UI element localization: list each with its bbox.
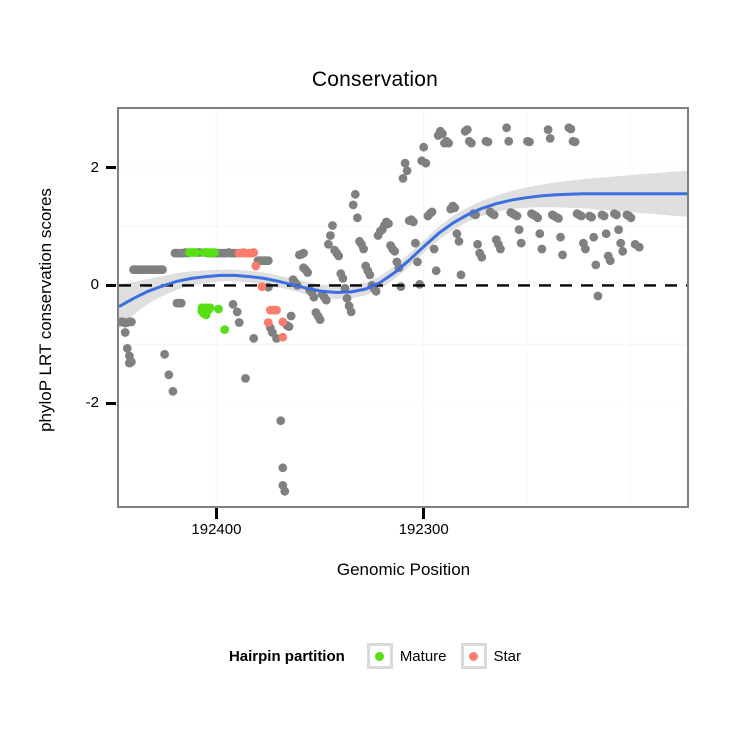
- mature-color-swatch: [375, 652, 384, 661]
- x-tick-label: 192300: [379, 521, 469, 538]
- conservation-plot-figure: Conservation phyloP LRT conservation sco…: [0, 0, 750, 750]
- y-tick-mark: [106, 402, 116, 405]
- legend-label-star: Star: [494, 648, 522, 665]
- plot-canvas: [119, 109, 687, 506]
- series-other: [119, 123, 644, 495]
- star-color-swatch: [469, 652, 478, 661]
- x-axis-label: Genomic Position: [117, 560, 690, 580]
- legend-item-mature[interactable]: Mature: [367, 643, 447, 669]
- y-axis-label: phyloP LRT conservation scores: [36, 160, 56, 460]
- legend-key-star: [461, 643, 487, 669]
- legend-item-star[interactable]: Star: [461, 643, 522, 669]
- legend-label-mature: Mature: [400, 648, 447, 665]
- y-tick-label: -2: [59, 394, 99, 411]
- y-tick-mark: [106, 284, 116, 287]
- plot-panel: [117, 107, 689, 508]
- page-title: Conservation: [0, 68, 750, 92]
- x-tick-mark: [215, 508, 218, 519]
- legend: Hairpin partition Mature Star: [0, 643, 750, 669]
- y-tick-label: 2: [59, 159, 99, 176]
- legend-key-mature: [367, 643, 393, 669]
- y-tick-label: 0: [59, 276, 99, 293]
- y-tick-mark: [106, 166, 116, 169]
- legend-title: Hairpin partition: [229, 648, 345, 665]
- x-tick-mark: [422, 508, 425, 519]
- x-tick-label: 192400: [171, 521, 261, 538]
- series-mature: [185, 248, 229, 334]
